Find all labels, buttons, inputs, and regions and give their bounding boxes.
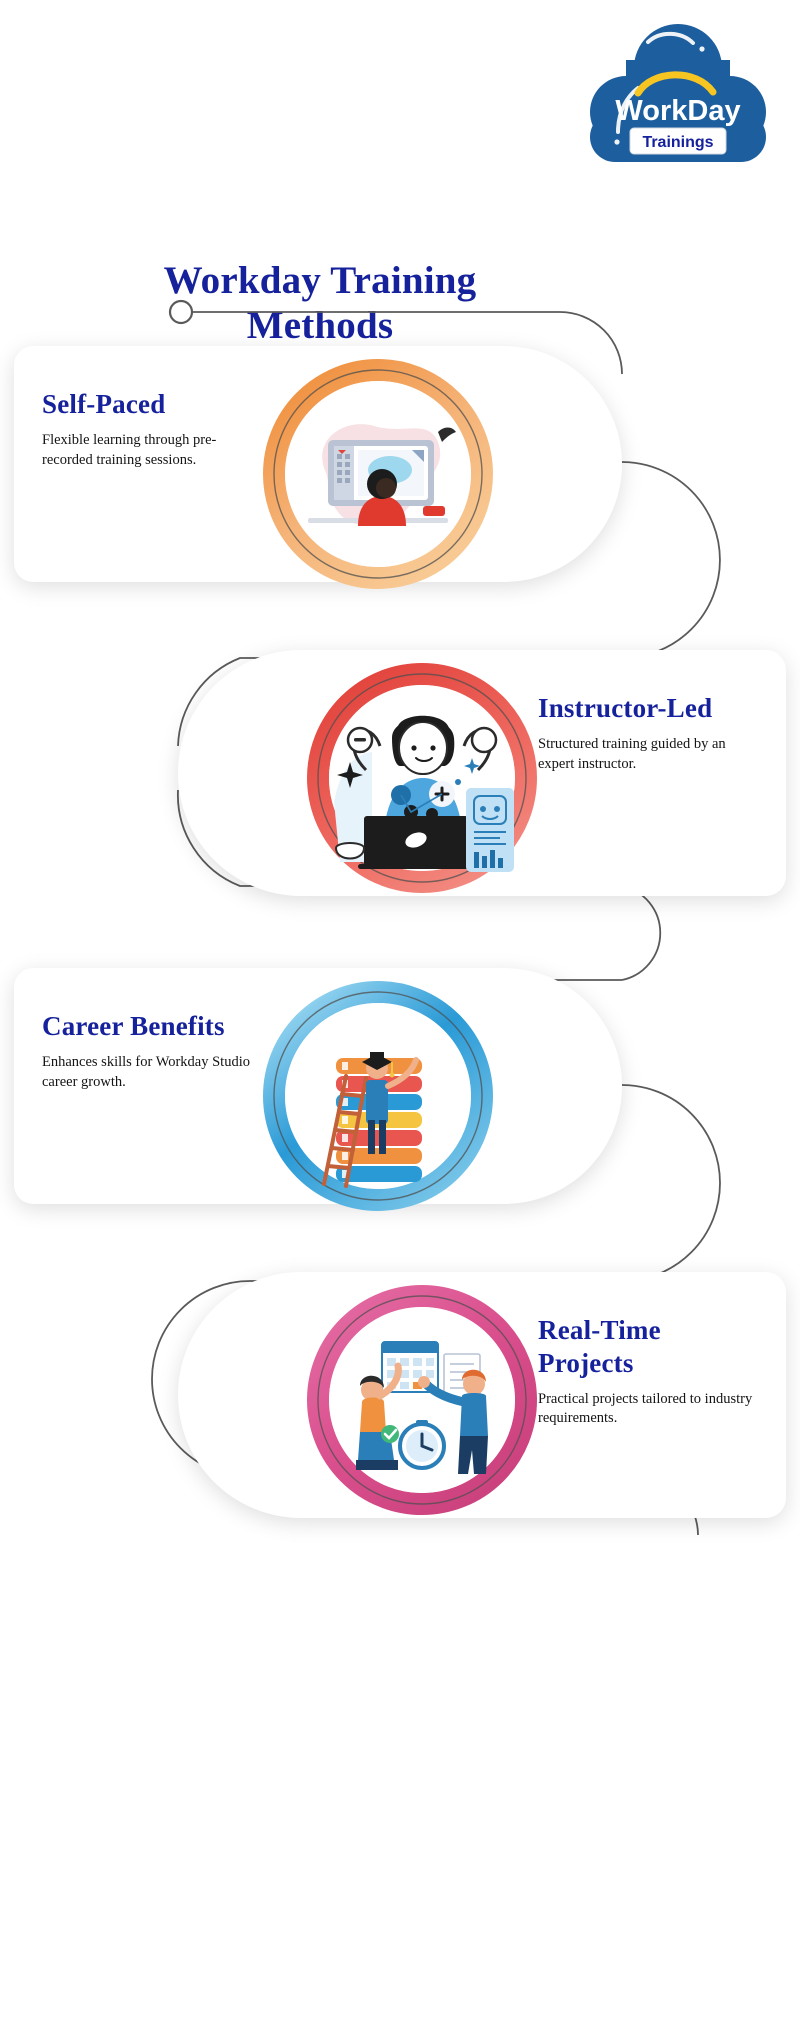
- card-career-benefits-heading: Career Benefits: [42, 1010, 262, 1043]
- logo-brand-bottom: Trainings: [642, 134, 713, 151]
- card-real-time-projects-heading: Real-Time Projects: [538, 1314, 758, 1380]
- card-self-paced[interactable]: Self-Paced Flexible learning through pre…: [14, 346, 622, 582]
- page-title-line-2: Methods: [120, 303, 520, 348]
- card-self-paced-text: Self-Paced Flexible learning through pre…: [42, 388, 262, 470]
- card-career-benefits-text: Career Benefits Enhances skills for Work…: [42, 1010, 262, 1092]
- card-real-time-projects-text: Real-Time Projects Practical projects ta…: [538, 1314, 758, 1429]
- card-real-time-projects[interactable]: Real-Time Projects Practical projects ta…: [178, 1272, 786, 1518]
- card-instructor-led-illustration: [306, 662, 538, 894]
- logo-brand-top: WorkDay: [615, 95, 740, 127]
- card-real-time-projects-illustration: [306, 1284, 538, 1516]
- card-real-time-projects-body: Practical projects tailored to industry …: [538, 1390, 758, 1429]
- logo-cloud-icon: WorkDay Trainings: [578, 20, 778, 175]
- page-title-line-1: Workday Training: [120, 258, 520, 303]
- page-title: Workday Training Methods: [120, 258, 520, 348]
- workday-trainings-logo[interactable]: WorkDay Trainings: [578, 20, 778, 175]
- card-career-benefits[interactable]: Career Benefits Enhances skills for Work…: [14, 968, 622, 1204]
- card-self-paced-heading: Self-Paced: [42, 388, 262, 421]
- card-career-benefits-body: Enhances skills for Workday Studio caree…: [42, 1053, 262, 1092]
- card-self-paced-body: Flexible learning through pre-recorded t…: [42, 431, 262, 470]
- card-instructor-led-text: Instructor-Led Structured training guide…: [538, 692, 758, 774]
- card-instructor-led-heading: Instructor-Led: [538, 692, 758, 725]
- card-career-benefits-illustration: [262, 980, 494, 1212]
- card-instructor-led-body: Structured training guided by an expert …: [538, 735, 758, 774]
- card-instructor-led[interactable]: Instructor-Led Structured training guide…: [178, 650, 786, 896]
- infographic-root: WorkDay Trainings Workday Training Metho…: [0, 0, 800, 2039]
- card-self-paced-illustration: [262, 358, 494, 590]
